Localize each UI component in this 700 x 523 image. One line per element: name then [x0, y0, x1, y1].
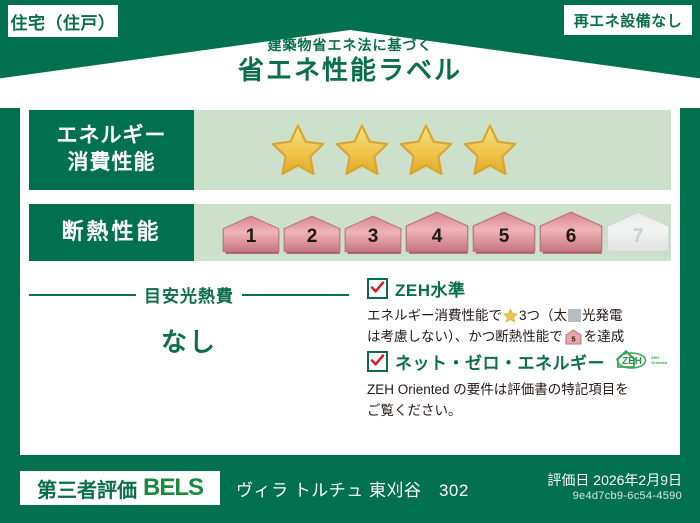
star-filled-icon: [333, 122, 391, 178]
check-net-zero-head: ネット・ゼロ・エネルギー ZEH ZEH Oriented: [367, 348, 642, 375]
label-body: エネルギー 消費性能 断熱性能 1234567 目安光熱費 なし: [20, 100, 680, 455]
zeh-body-star-count: 3つ（太: [519, 308, 567, 323]
insulation-level-number: 7: [606, 226, 670, 248]
insulation-performance-row: 断熱性能 1234567: [29, 204, 671, 261]
insulation-level-number: 6: [539, 226, 603, 248]
bels-energy-label: 住宅（住戸） 再エネ設備なし 建築物省エネ法に基づく 省エネ性能ラベル エネルギ…: [0, 0, 700, 523]
insulation-level-filled: 4: [405, 211, 469, 255]
energy-performance-row: エネルギー 消費性能: [29, 110, 671, 190]
energy-performance-label: エネルギー 消費性能: [29, 110, 194, 190]
insulation-level-filled: 5: [472, 211, 536, 255]
star-filled-icon: [461, 122, 519, 178]
energy-performance-value: [194, 110, 671, 190]
insulation-level-number: 2: [283, 226, 341, 248]
utility-cost-heading-text: 目安光熱費: [144, 282, 234, 307]
check-net-zero-body: ZEH Oriented の要件は評価書の特記項目をご覧ください。: [367, 380, 642, 422]
insulation-level-filled: 1: [222, 215, 280, 255]
star-filled-icon: [397, 122, 455, 178]
insulation-level-number: 1: [222, 226, 280, 248]
checkbox-checked-icon: [367, 278, 388, 299]
insulation-performance-label: 断熱性能: [29, 204, 194, 261]
check-net-zero-energy: ネット・ゼロ・エネルギー ZEH ZEH Oriented: [367, 348, 642, 422]
check-zeh-standard-head: ZEH水準: [367, 276, 642, 301]
insulation-level-scale: 1234567: [194, 211, 670, 255]
star-filled-icon: [269, 122, 327, 178]
redacted-character: [568, 309, 581, 322]
zeh-body-part1: エネルギー消費性能で: [367, 308, 502, 323]
insulation-level-number: 3: [344, 226, 402, 248]
bels-badge: 第三者評価 BELS: [20, 471, 220, 505]
insulation-level-filled: 6: [539, 211, 603, 255]
title-subtitle: 建築物省エネ法に基づく: [0, 38, 700, 53]
zeh-body-part2: 光発電: [582, 308, 623, 323]
energy-label-line1: エネルギー: [57, 123, 167, 150]
check-zeh-standard-title: ZEH水準: [395, 276, 466, 301]
zeh-oriented-logo-icon: ZEH ZEH Oriented: [615, 348, 667, 375]
title-main: 省エネ性能ラベル: [0, 56, 700, 85]
bels-jp-text: 第三者評価: [37, 474, 137, 503]
building-type-chip: 住宅（住戸）: [8, 5, 118, 37]
insulation-level-number: 4: [405, 226, 469, 248]
check-net-zero-title: ネット・ゼロ・エネルギー: [395, 349, 605, 374]
certification-checks: ZEH水準 エネルギー消費性能で3つ（太光発電は考慮しない）、かつ断熱性能で5を…: [359, 272, 671, 447]
renewable-equipment-chip: 再エネ設備なし: [564, 5, 692, 35]
rule-left: [29, 294, 136, 296]
label-title: 建築物省エネ法に基づく 省エネ性能ラベル: [0, 38, 700, 85]
zeh-logo-text: ZEH: [622, 356, 642, 367]
insulation-level-empty: 7: [606, 211, 670, 255]
bels-en-text: BELS: [143, 474, 203, 502]
evaluation-id: 9e4d7cb9-6c54-4590: [573, 490, 682, 502]
check-zeh-standard: ZEH水準 エネルギー消費性能で3つ（太光発電は考慮しない）、かつ断熱性能で5を…: [367, 276, 642, 352]
checkbox-checked-icon-2: [367, 351, 388, 372]
inline-star-icon: [503, 308, 518, 323]
insulation-performance-value: 1234567: [194, 204, 671, 261]
zeh-body-part3: は考慮しない）、かつ断熱性能で: [367, 329, 563, 344]
star-rating: [194, 122, 519, 178]
rule-right: [242, 294, 349, 296]
energy-label-line2: 消費性能: [68, 150, 156, 177]
utility-cost-value: なし: [29, 322, 349, 359]
inline-level-number: 5: [571, 334, 575, 343]
footer-band: 第三者評価 BELS ヴィラ トルチュ 東刈谷 302 評価日 2026年2月9…: [0, 460, 700, 523]
evaluation-date: 評価日 2026年2月9日: [547, 470, 682, 490]
insulation-level-filled: 2: [283, 215, 341, 255]
check-zeh-standard-body: エネルギー消費性能で3つ（太光発電は考慮しない）、かつ断熱性能で5を達成: [367, 306, 642, 352]
utility-cost-section: 目安光熱費 なし: [29, 272, 359, 447]
zeh-body-part4: を達成: [584, 329, 625, 344]
insulation-level-filled: 3: [344, 215, 402, 255]
zeh-logo-sub1: ZEH: [651, 355, 659, 360]
zeh-logo-sub2: Oriented: [651, 360, 667, 365]
insulation-level-number: 5: [472, 226, 536, 248]
utility-cost-heading: 目安光熱費: [29, 282, 349, 307]
property-name: ヴィラ トルチュ 東刈谷 302: [236, 476, 469, 501]
lower-section: 目安光熱費 なし ZEH水準 エネルギー消費性能で3つ（太光発電は考慮しない）、…: [29, 272, 671, 447]
